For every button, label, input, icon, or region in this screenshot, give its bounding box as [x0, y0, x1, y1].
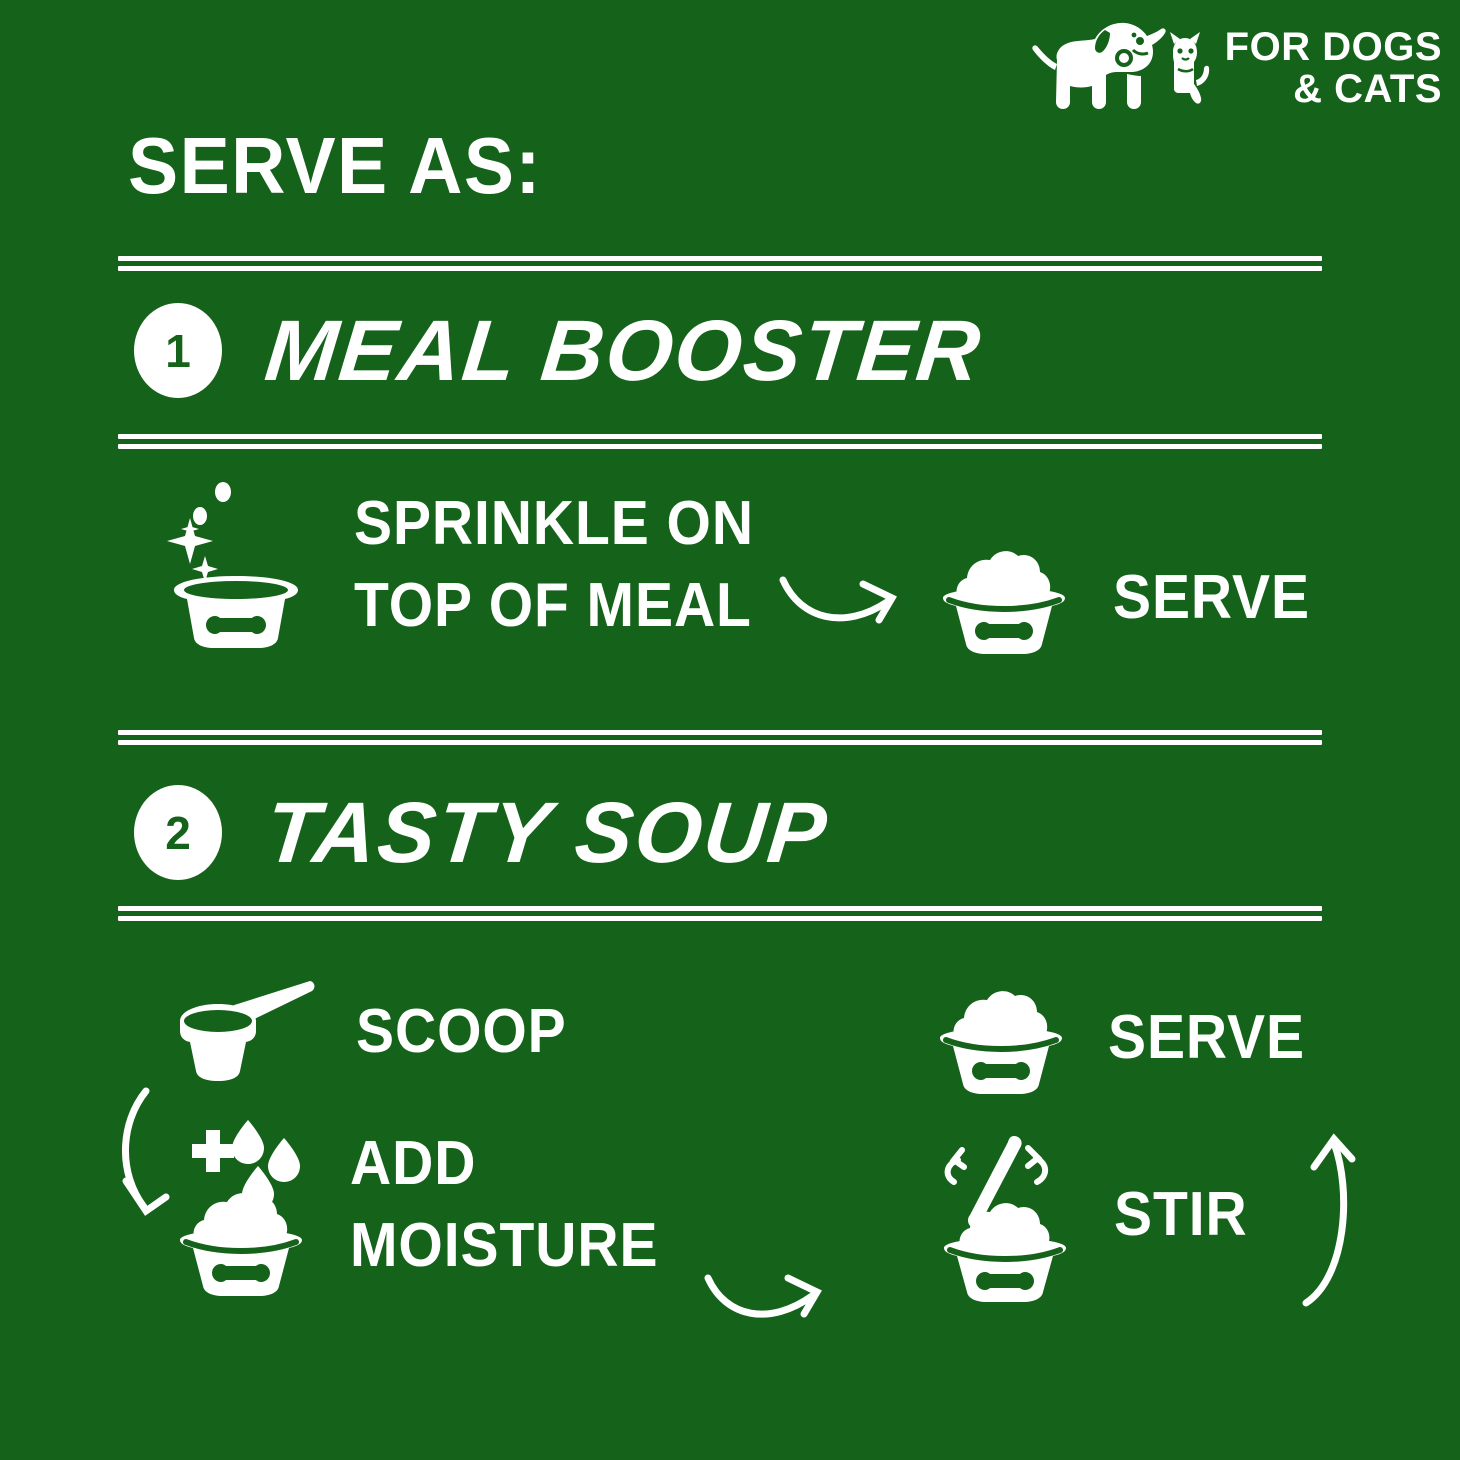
full-bowl-icon: [935, 538, 1073, 658]
action-scoop-label: SCOOP: [356, 998, 567, 1066]
divider-step-1: [118, 434, 1322, 449]
action-serve-step-2: SERVE: [932, 978, 1322, 1098]
action-serve-step-1: SERVE: [935, 538, 1327, 658]
bowl-with-spoon-icon: [930, 1128, 1090, 1303]
action-scoop: SCOOP: [170, 975, 585, 1090]
curved-arrow-up-icon: [1290, 1125, 1390, 1315]
curved-arrow-right-bottom-icon: [700, 1252, 840, 1337]
dog-and-cat-icon: [1021, 14, 1211, 124]
brand-badge: FOR DOGS & CATS: [1021, 14, 1442, 124]
step-2-heading: 2 TASTY SOUP: [134, 785, 828, 880]
action-sprinkle: SPRINKLE ON TOP OF MEAL: [160, 470, 789, 660]
curved-arrow-right-icon: [775, 558, 915, 643]
page-title: SERVE AS:: [128, 126, 542, 206]
step-1-title: MEAL BOOSTER: [261, 308, 985, 394]
step-2-number: 2: [134, 785, 222, 880]
action-stir: STIR: [930, 1128, 1259, 1303]
action-add-moisture-label: ADD MOISTURE: [350, 1123, 658, 1287]
full-bowl-icon: [932, 978, 1070, 1098]
action-sprinkle-label: SPRINKLE ON TOP OF MEAL: [354, 483, 754, 647]
action-serve-step-2-label: SERVE: [1108, 1004, 1305, 1072]
measuring-scoop-icon: [170, 975, 320, 1090]
empty-bowl-with-sparkles-icon: [160, 470, 320, 660]
step-1-heading: 1 MEAL BOOSTER: [134, 303, 981, 398]
action-stir-label: STIR: [1114, 1181, 1248, 1249]
step-1-number: 1: [134, 303, 222, 398]
action-add-moisture: ADD MOISTURE: [170, 1110, 685, 1300]
divider-top: [118, 256, 1322, 271]
water-droplets-bowl-icon: [170, 1110, 320, 1300]
divider-step-2: [118, 906, 1322, 921]
infographic-canvas: FOR DOGS & CATS SERVE AS: 1 MEAL BOOSTER: [0, 0, 1460, 1460]
step-2-title: TASTY SOUP: [261, 790, 832, 876]
divider-mid: [118, 730, 1322, 745]
action-serve-step-1-label: SERVE: [1113, 564, 1310, 632]
brand-label: FOR DOGS & CATS: [1225, 27, 1442, 110]
